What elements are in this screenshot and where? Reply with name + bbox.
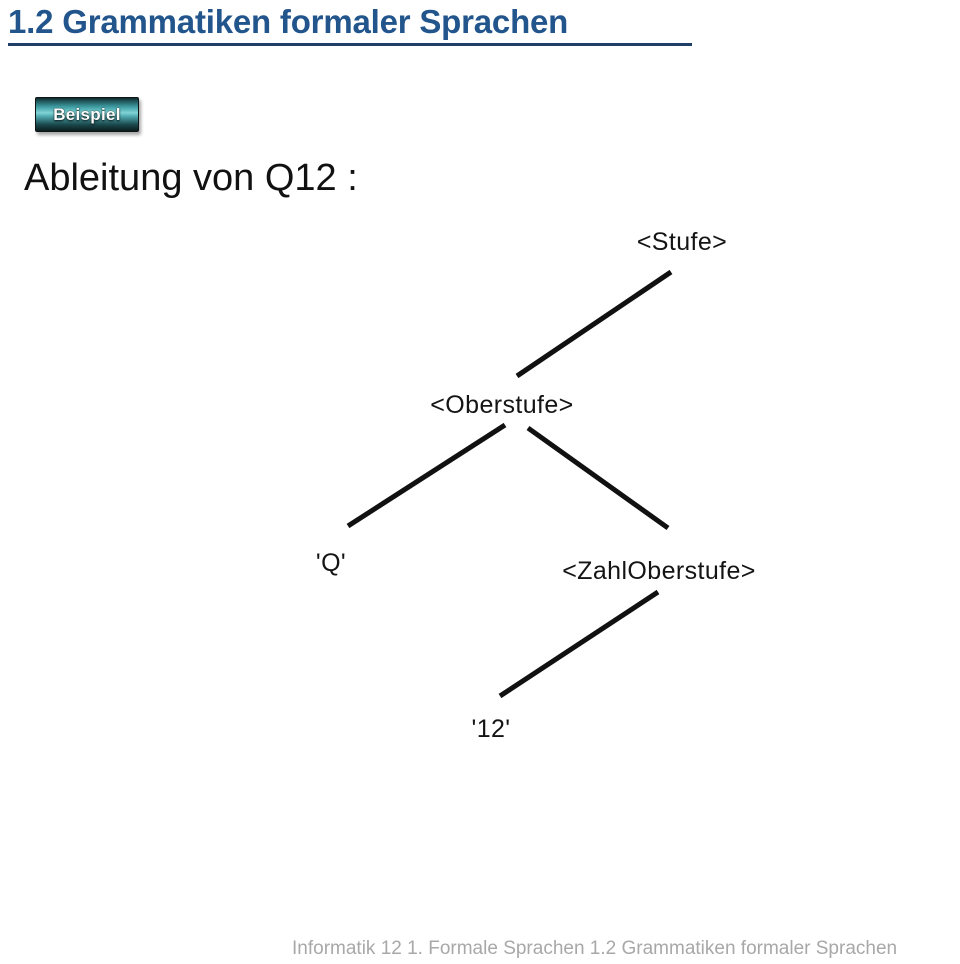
tree-node-zwoelf: '12' — [472, 715, 511, 744]
footer-text: Informatik 12 1. Formale Sprachen 1.2 Gr… — [292, 938, 897, 960]
tree-node-oberstufe: <Oberstufe> — [430, 391, 573, 420]
tree-node-q: 'Q' — [316, 549, 346, 578]
derivation-tree: <Stufe><Oberstufe>'Q'<ZahlOberstufe>'12' — [0, 0, 960, 800]
tree-node-zahloberstufe: <ZahlOberstufe> — [562, 557, 756, 586]
edge-oberstufe-zahloberstufe — [528, 428, 668, 528]
tree-node-stufe: <Stufe> — [637, 228, 727, 257]
edge-zahloberstufe-zwoelf — [500, 592, 658, 696]
edge-oberstufe-q — [348, 425, 505, 526]
edge-oberstufe-stufe — [517, 272, 671, 376]
